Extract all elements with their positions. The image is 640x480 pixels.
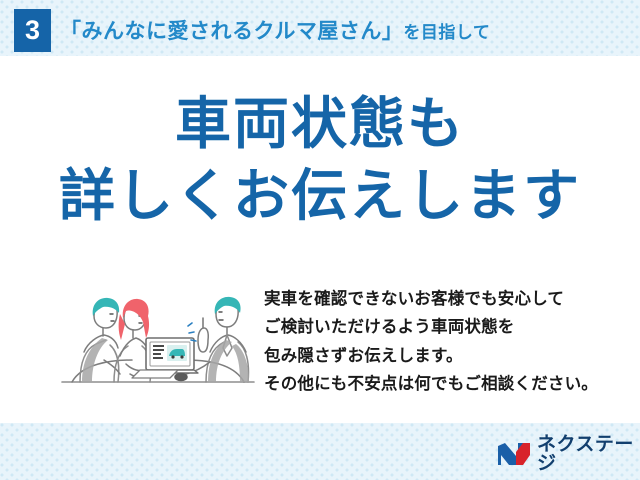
body-copy-line-1: 実車を確認できないお客様でも安心して — [264, 285, 614, 313]
body-copy-line-4: その他にも不安点は何でもご相談ください。 — [264, 370, 614, 398]
nextage-logo-text: ネクステージ — [537, 435, 640, 473]
section-number-badge: 3 — [14, 9, 51, 52]
customer-consultation-illustration — [58, 278, 258, 396]
header-title-suffix: を目指して — [403, 23, 490, 42]
promotional-banner: 3 「みんなに愛されるクルマ屋さん」を目指して 車両状態も 詳しくお伝えします — [0, 0, 640, 480]
header-title: 「みんなに愛されるクルマ屋さん」を目指して — [60, 15, 490, 45]
headline-line-1: 車両状態も — [0, 96, 640, 152]
header-title-main: 「みんなに愛されるクルマ屋さん」 — [60, 20, 403, 43]
body-copy: 実車を確認できないお客様でも安心して ご検討いただけるよう車両状態を 包み隠さず… — [264, 285, 614, 399]
headline-line-2: 詳しくお伝えします — [0, 168, 640, 224]
body-copy-line-3: 包み隠さずお伝えします。 — [264, 342, 614, 370]
headline: 車両状態も 詳しくお伝えします — [0, 96, 640, 224]
body-copy-line-2: ご検討いただけるよう車両状態を — [264, 313, 614, 341]
nextage-logo: ネクステージ — [497, 440, 640, 467]
nextage-n-logo-icon — [497, 442, 531, 466]
